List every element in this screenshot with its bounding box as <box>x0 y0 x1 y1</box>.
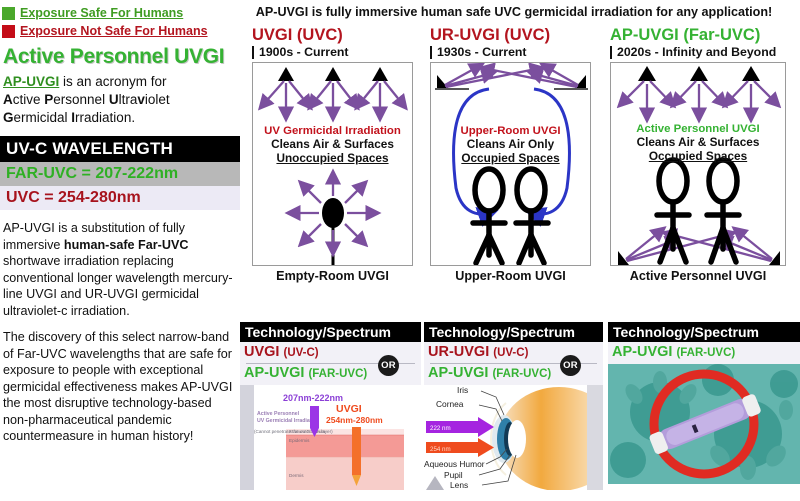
spec-bottom-main-2: AP-UVGI <box>428 365 488 381</box>
panel-era-ap-uvgi: 2020s - Infinity and Beyond <box>610 44 800 60</box>
scene-caption-ur-uvgi: Upper-Room UVGI <box>430 269 591 283</box>
scene-text-block-1: UV Germicidal Irradiation Cleans Air & S… <box>253 125 412 165</box>
right-shade-2 <box>587 385 603 490</box>
eye-label-iris: Iris <box>457 385 468 395</box>
acronym-lead: AP-UVGI <box>3 74 59 89</box>
acronym-definition: AP-UVGI is an acronym for Active Personn… <box>3 73 236 126</box>
spec-bottom-main-3: AP-UVGI <box>612 344 672 360</box>
eye-far-uvc-arrow: 222 nm <box>426 417 494 437</box>
wavelength-row-uvc: UVC = 254-280nm <box>0 186 240 210</box>
active-personnel-illustration <box>611 63 786 266</box>
or-badge-2: OR <box>560 355 581 376</box>
far-uvc-lamp-image <box>608 364 800 484</box>
tech-spec-2: UR-UVGI (UV-C) AP-UVGI (FAR-UVC) OR <box>424 342 603 385</box>
tech-header-2: Technology/Spectrum <box>424 322 603 342</box>
scene-text-block-2: Upper-Room UVGI Cleans Air Only Occupied… <box>431 125 590 165</box>
panel-era-text-ur-uvgi: 1930s - Current <box>437 44 527 60</box>
lamp-over-virus-illustration <box>608 364 800 484</box>
scene-line2-ur-uvgi: Cleans Air Only <box>431 137 590 151</box>
scene-empty-room: UV Germicidal Irradiation Cleans Air & S… <box>252 62 413 266</box>
panel-ap-uvgi: AP-UVGI (Far-UVC) 2020s - Infinity and B… <box>610 26 800 283</box>
panel-era-uvgi: 1900s - Current <box>252 44 430 60</box>
uvc-arrow-icon <box>352 427 361 486</box>
acronym-p: P <box>44 92 53 107</box>
tech-panel-lamp: Technology/Spectrum AP-UVGI (FAR-UVC) <box>608 322 800 484</box>
legend-label-safe: Exposure Safe For Humans <box>20 6 183 20</box>
paragraph-discovery: The discovery of this select narrow-band… <box>3 329 236 444</box>
sidebar: Exposure Safe For Humans Exposure Not Sa… <box>0 0 240 501</box>
spec-bottom-main-1: AP-UVGI <box>244 365 304 381</box>
panel-title-ur-uvgi: UR-UVGI (UVC) <box>430 26 608 44</box>
spec-bottom-sub-1: (FAR-UVC) <box>308 368 367 380</box>
acronym-ltra: ltra <box>119 92 138 107</box>
acronym-ctive: ctive <box>13 92 45 107</box>
skin-layer-label-3: Dermis <box>289 473 304 478</box>
scene-line1-ap-uvgi: Active Personnel UVGI <box>611 123 785 135</box>
scene-caption-uvgi: Empty-Room UVGI <box>252 269 413 283</box>
acronym-rradiation: rradiation. <box>75 110 135 125</box>
tech-spec-1: UVGI (UV-C) AP-UVGI (FAR-UVC) OR <box>240 342 421 385</box>
uvgi-arrow-range: 254nm-280nm <box>326 415 383 425</box>
panel-era-text-ap-uvgi: 2020s - Infinity and Beyond <box>617 44 776 60</box>
page-title: Active Personnel UVGI <box>3 45 240 69</box>
panel-era-ur-uvgi: 1930s - Current <box>430 44 608 60</box>
skin-penetration-image: Stratum Corneum Epidermis Dermis Active … <box>240 385 421 490</box>
spec-top-main-1: UVGI <box>244 344 279 360</box>
scene-text-block-3: Active Personnel UVGI Cleans Air & Surfa… <box>611 123 785 163</box>
scene-caption-ap-uvgi: Active Personnel UVGI <box>610 269 786 283</box>
infographic-root: Exposure Safe For Humans Exposure Not Sa… <box>0 0 800 501</box>
eye-label-lens: Lens <box>450 480 468 490</box>
scene-line3-ur-uvgi: Occupied Spaces <box>431 151 590 165</box>
acronym-g: G <box>3 110 14 125</box>
gray-wedge-decoration <box>426 476 444 490</box>
eye-222-label: 222 nm <box>430 425 451 432</box>
left-shade-1 <box>240 385 254 490</box>
eye-label-aqueous: Aqueous Humor <box>424 459 485 469</box>
para1-b: human-safe Far-UVC <box>64 238 189 252</box>
acronym-ermicidal: ermicidal <box>14 110 72 125</box>
para1-c: shortwave irradiation replacing conventi… <box>3 254 233 317</box>
tech-header-1: Technology/Spectrum <box>240 322 421 342</box>
spec-bottom-sub-3: (FAR-UVC) <box>676 347 735 359</box>
eye-label-cornea: Cornea <box>436 399 464 409</box>
skin-diagram: Stratum Corneum Epidermis Dermis Active … <box>240 385 421 490</box>
skin-note-line3: (Cannot penetrate the outer skin layer) <box>254 429 333 434</box>
panel-ur-uvgi: UR-UVGI (UVC) 1930s - Current <box>430 26 608 283</box>
legend-label-not-safe: Exposure Not Safe For Humans <box>20 24 208 38</box>
eye-label-pupil: Pupil <box>444 470 463 480</box>
skin-note-line1: Active Personnel <box>257 411 300 417</box>
wavelength-row-far-uvc: FAR-UVC = 207-222nm <box>0 162 240 186</box>
skin-layer-label-2: Epidermis <box>289 438 310 443</box>
scene-upper-room: Upper-Room UVGI Cleans Air Only Occupied… <box>430 62 591 266</box>
spec-bottom-3: AP-UVGI (FAR-UVC) <box>612 343 796 363</box>
acronym-a: A <box>3 92 13 107</box>
spec-top-sub-1: (UV-C) <box>283 347 318 359</box>
acronym-ersonnel: ersonnel <box>53 92 109 107</box>
red-swatch-icon <box>2 25 15 38</box>
legend-item-safe: Exposure Safe For Humans <box>0 4 240 22</box>
paragraph-definition: AP-UVGI is a substitution of fully immer… <box>3 220 236 319</box>
panel-uvgi: UVGI (UVC) 1900s - Current <box>252 26 430 283</box>
panel-title-uvgi: UVGI (UVC) <box>252 26 430 44</box>
wavelength-header: UV-C WAVELENGTH <box>0 136 240 162</box>
legend-item-not-safe: Exposure Not Safe For Humans <box>0 22 240 40</box>
tech-header-3: Technology/Spectrum <box>608 322 800 342</box>
acronym-iolet: iolet <box>145 92 170 107</box>
tech-spec-3: AP-UVGI (FAR-UVC) <box>608 342 800 364</box>
eye-diagram: 222 nm 254 nm Iris Cornea <box>424 385 603 490</box>
panel-era-text-uvgi: 1900s - Current <box>259 44 349 60</box>
eye-uvc-arrow: 254 nm <box>426 438 494 457</box>
uvgi-arrow-title: UVGI <box>336 403 362 415</box>
scene-line2-ap-uvgi: Cleans Air & Surfaces <box>611 135 785 149</box>
scene-line3-uvgi: Unoccupied Spaces <box>253 151 412 165</box>
scene-active-personnel: Active Personnel UVGI Cleans Air & Surfa… <box>610 62 786 266</box>
tech-panel-eye: Technology/Spectrum UR-UVGI (UV-C) AP-UV… <box>424 322 603 490</box>
spec-top-main-2: UR-UVGI <box>428 344 489 360</box>
green-swatch-icon <box>2 7 15 20</box>
scene-line3-ap-uvgi: Occupied Spaces <box>611 149 785 163</box>
scene-line2-uvgi: Cleans Air & Surfaces <box>253 137 412 151</box>
skin-note-line2: UV Germicidal Irradiation <box>257 418 319 424</box>
spec-top-sub-2: (UV-C) <box>493 347 528 359</box>
top-banner: AP-UVGI is fully immersive human safe UV… <box>228 2 800 22</box>
scene-line1-ur-uvgi: Upper-Room UVGI <box>431 125 590 137</box>
spec-bottom-sub-2: (FAR-UVC) <box>492 368 551 380</box>
eye-254-label: 254 nm <box>430 446 451 453</box>
tech-panel-skin: Technology/Spectrum UVGI (UV-C) AP-UVGI … <box>240 322 421 490</box>
acronym-u: U <box>109 92 119 107</box>
acronym-v: v <box>137 92 145 107</box>
scene-line1-uvgi: UV Germicidal Irradiation <box>253 125 412 137</box>
far-uvc-arrow-label: 207nm-222nm <box>283 393 343 403</box>
panel-title-ap-uvgi: AP-UVGI (Far-UVC) <box>610 26 800 44</box>
eye-cross-section-image: 222 nm 254 nm Iris Cornea <box>424 385 603 490</box>
acronym-rest: is an acronym for <box>59 74 166 89</box>
or-badge-1: OR <box>378 355 399 376</box>
